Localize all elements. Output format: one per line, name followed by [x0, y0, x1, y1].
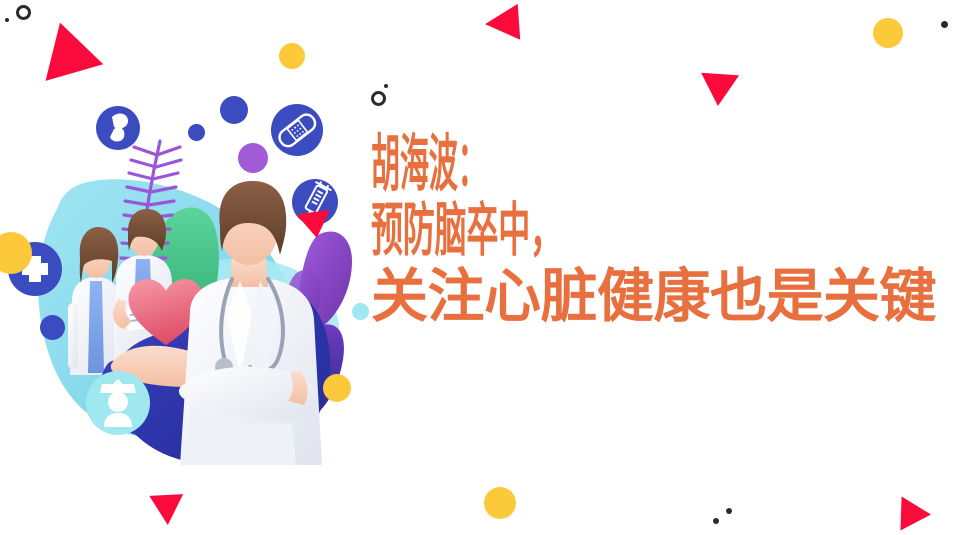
poster-headline: 胡海波： 预防脑卒中， 关注心脏健康也是关键 — [371, 133, 946, 331]
dot-cyan-right — [352, 303, 369, 320]
dot-black-bottom-lower — [713, 518, 719, 524]
headline-line-3: 关注心脏健康也是关键 — [371, 267, 936, 331]
dot-black-top-right — [941, 21, 948, 28]
triangle-red-top-center — [484, 4, 520, 42]
dot-blue-top — [220, 96, 248, 124]
ring-black-top-left — [16, 5, 31, 20]
ring-black-mid-top — [371, 91, 386, 106]
headline-line-2: 预防脑卒中， — [371, 201, 689, 265]
dot-yellow-top-center — [279, 43, 305, 69]
dot-purple-top — [238, 143, 268, 173]
dot-yellow-behind-leaf — [323, 374, 351, 402]
nurse-avatar-icon — [86, 371, 150, 435]
dot-black-bottom-upper — [726, 508, 732, 514]
triangle-red-under-syringe — [296, 210, 333, 240]
dot-yellow-top-right — [873, 18, 903, 48]
dot-yellow-bottom-center — [484, 487, 516, 519]
triangle-red-bottom-left — [149, 494, 185, 526]
dot-blue-small-top — [188, 124, 205, 141]
dot-black-mid-top-small — [384, 84, 388, 88]
headline-line-1: 胡海波： — [371, 133, 641, 199]
poster-canvas: 胡海波： 预防脑卒中， 关注心脏健康也是关键 — [0, 0, 953, 535]
triangle-red-top-right — [699, 73, 739, 108]
bandage-icon — [271, 104, 323, 156]
dot-blue-left — [40, 315, 65, 340]
pill-icon — [96, 106, 140, 150]
triangle-red-bottom-right — [900, 496, 931, 531]
dot-black-top-left-small — [5, 18, 9, 22]
